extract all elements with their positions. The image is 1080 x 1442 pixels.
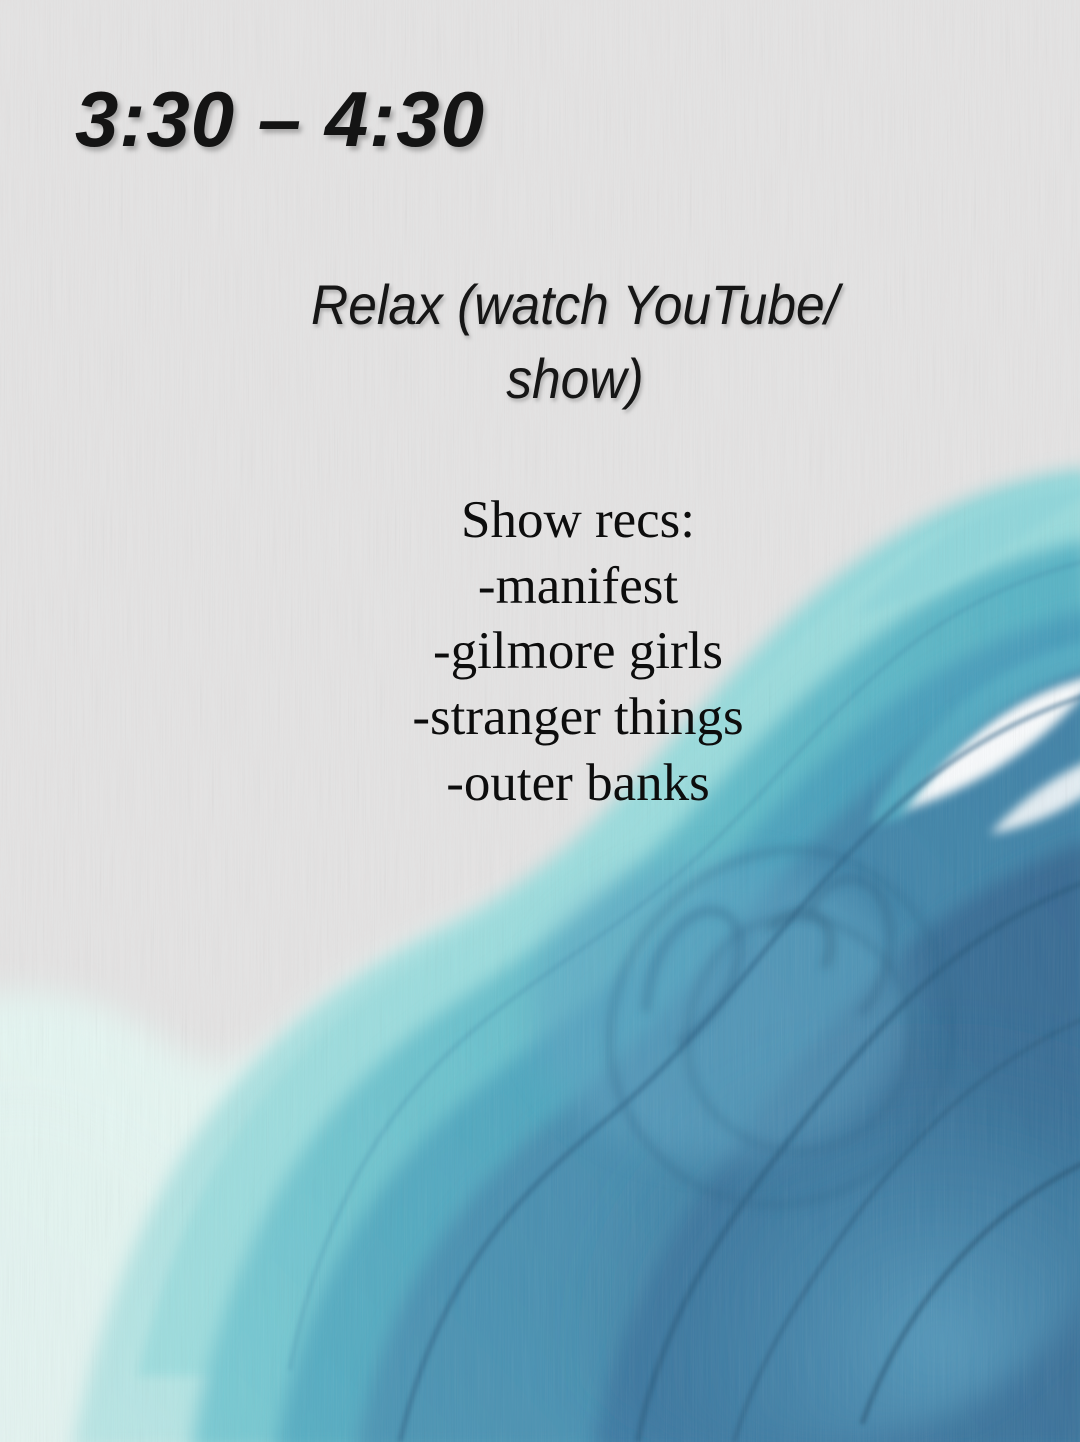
- list-item: -manifest: [288, 554, 868, 620]
- text-layer: 3:30 – 4:30 Relax (watch YouTube/ show) …: [0, 0, 1080, 1442]
- show-recommendations-list: Show recs: -manifest -gilmore girls -str…: [288, 488, 868, 817]
- list-item: -outer banks: [288, 751, 868, 817]
- schedule-card: 3:30 – 4:30 Relax (watch YouTube/ show) …: [0, 0, 1080, 1442]
- time-range-heading: 3:30 – 4:30: [75, 74, 485, 165]
- show-recs-heading: Show recs:: [288, 488, 868, 554]
- list-item: -gilmore girls: [288, 619, 868, 685]
- list-item: -stranger things: [288, 685, 868, 751]
- activity-description: Relax (watch YouTube/ show): [258, 268, 893, 416]
